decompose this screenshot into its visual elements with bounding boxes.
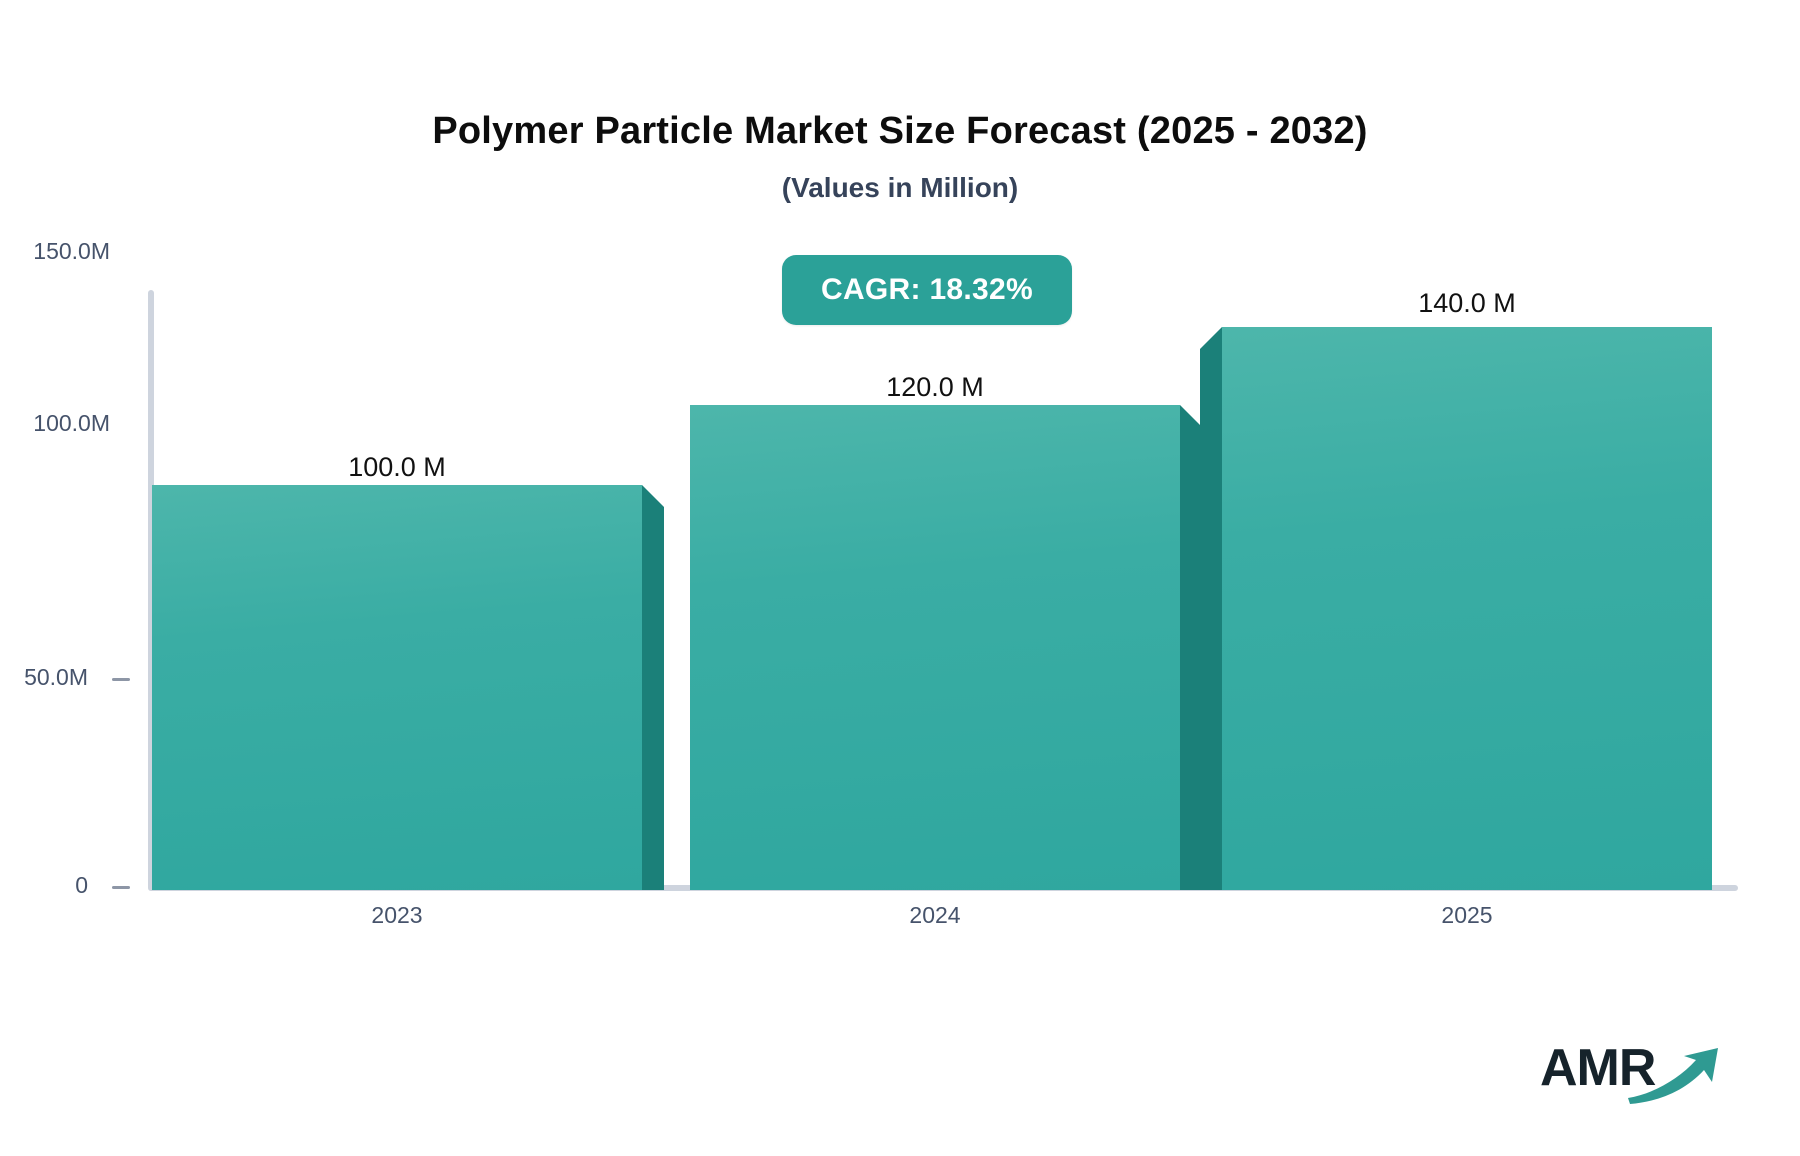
x-tick-label-2023: 2023 — [247, 902, 547, 929]
y-tick-label-0: 0 — [75, 872, 88, 899]
bar-2025[interactable] — [1222, 327, 1712, 890]
bar-value-2025: 140.0 M — [1317, 288, 1617, 319]
y-tick-dash-50 — [112, 678, 130, 681]
bar-2023-face — [152, 485, 642, 890]
bar-value-2024: 120.0 M — [785, 372, 1085, 403]
x-tick-label-2024: 2024 — [785, 902, 1085, 929]
y-tick-dash-0 — [112, 886, 130, 889]
bar-2024[interactable] — [690, 405, 1180, 890]
x-tick-label-2025: 2025 — [1317, 902, 1617, 929]
bar-2024-side — [1180, 405, 1202, 890]
bar-value-2023: 100.0 M — [247, 452, 547, 483]
bar-2023[interactable] — [152, 485, 642, 890]
amr-logo: AMR — [1540, 1038, 1720, 1108]
bar-2024-face — [690, 405, 1180, 890]
y-tick-label-150: 150.0M — [33, 238, 110, 265]
plot-area: 150.0M 100.0M 50.0M 0 100.0 M 2023 120.0… — [0, 0, 1800, 1156]
growth-arrow-icon — [1626, 1046, 1726, 1106]
bar-2023-side — [642, 485, 664, 890]
bar-2025-side — [1200, 327, 1222, 890]
y-tick-label-100: 100.0M — [33, 410, 110, 437]
y-tick-label-50: 50.0M — [24, 664, 88, 691]
chart-canvas: Polymer Particle Market Size Forecast (2… — [0, 0, 1800, 1156]
bar-2025-face — [1222, 327, 1712, 890]
